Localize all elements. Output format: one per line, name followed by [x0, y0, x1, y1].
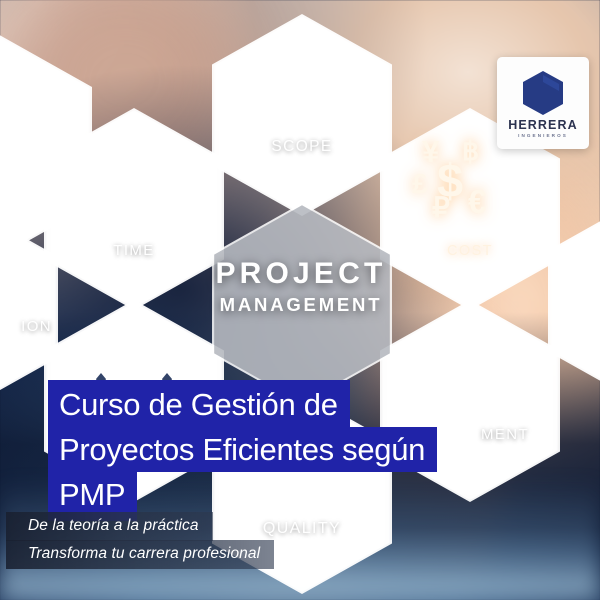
brand-name: HERRERA	[508, 118, 578, 132]
brand-subtitle: INGENIEROS	[518, 133, 568, 138]
gantt-chart-icon	[96, 148, 172, 224]
hexagon-label-quality: QUALITY	[212, 520, 392, 538]
center-wordmark: PROJECT MANAGEMENT	[196, 258, 406, 316]
org-chart-icon	[258, 52, 346, 124]
currency-ruble-symbol: ₽	[432, 194, 450, 222]
headline-banner: Curso de Gestión de Proyectos Eficientes…	[48, 380, 437, 521]
center-wordmark-line2: MANAGEMENT	[196, 294, 406, 316]
center-wordmark-line1: PROJECT	[196, 258, 406, 290]
subtitle-line-1: De la teoría a la práctica	[6, 512, 213, 541]
course-promo-poster: TIME SCOPE	[0, 0, 600, 600]
headline-line-2: Proyectos Eficientes según	[48, 427, 437, 472]
hexagon-label-time: TIME	[44, 242, 224, 259]
currency-euro-symbol: €	[468, 185, 486, 218]
hexagon-h-monogram-icon	[519, 69, 567, 117]
subtitle-line-2: Transforma tu carrera profesional	[6, 540, 274, 569]
currency-pound-symbol: £	[412, 170, 428, 198]
hexagon-label-cost: COST	[380, 243, 560, 259]
headline-line-1: Curso de Gestión de	[48, 380, 350, 427]
brand-logo-card[interactable]: HERRERA INGENIEROS	[497, 57, 589, 149]
hexagon-label-scope: SCOPE	[212, 138, 392, 156]
hexagon-label-communication: ION	[0, 318, 58, 335]
currency-baht-symbol: ฿	[462, 138, 479, 165]
